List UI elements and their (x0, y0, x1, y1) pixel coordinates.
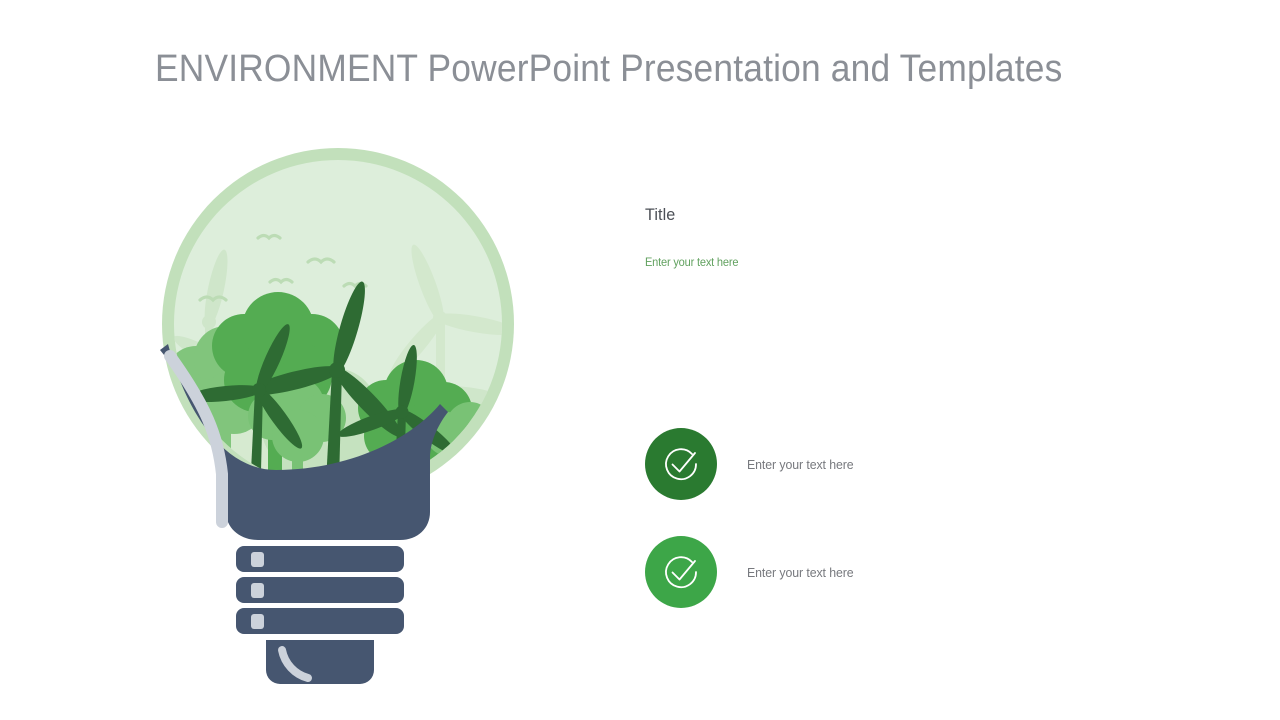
light-bulb-graphic (148, 140, 528, 700)
check-circle-icon (659, 442, 703, 486)
list-item[interactable]: Enter your text here (645, 536, 1205, 608)
page-title: ENVIRONMENT PowerPoint Presentation and … (155, 48, 1062, 91)
list-item-label: Enter your text here (747, 565, 854, 580)
bulb-contact-cap (266, 640, 374, 684)
check-circle-badge-1[interactable] (645, 428, 717, 500)
eco-light-bulb-illustration (148, 140, 528, 700)
list-item[interactable]: Enter your text here (645, 428, 1205, 500)
content-heading: Title (645, 205, 1177, 225)
bulb-screw-threads (236, 546, 404, 634)
check-circle-icon (659, 550, 703, 594)
content-column: Title Enter your text here (645, 205, 1205, 269)
content-subtext: Enter your text here (645, 255, 1160, 269)
bullet-list: Enter your text here Enter your text her… (645, 428, 1205, 644)
check-circle-badge-2[interactable] (645, 536, 717, 608)
list-item-label: Enter your text here (747, 457, 854, 472)
